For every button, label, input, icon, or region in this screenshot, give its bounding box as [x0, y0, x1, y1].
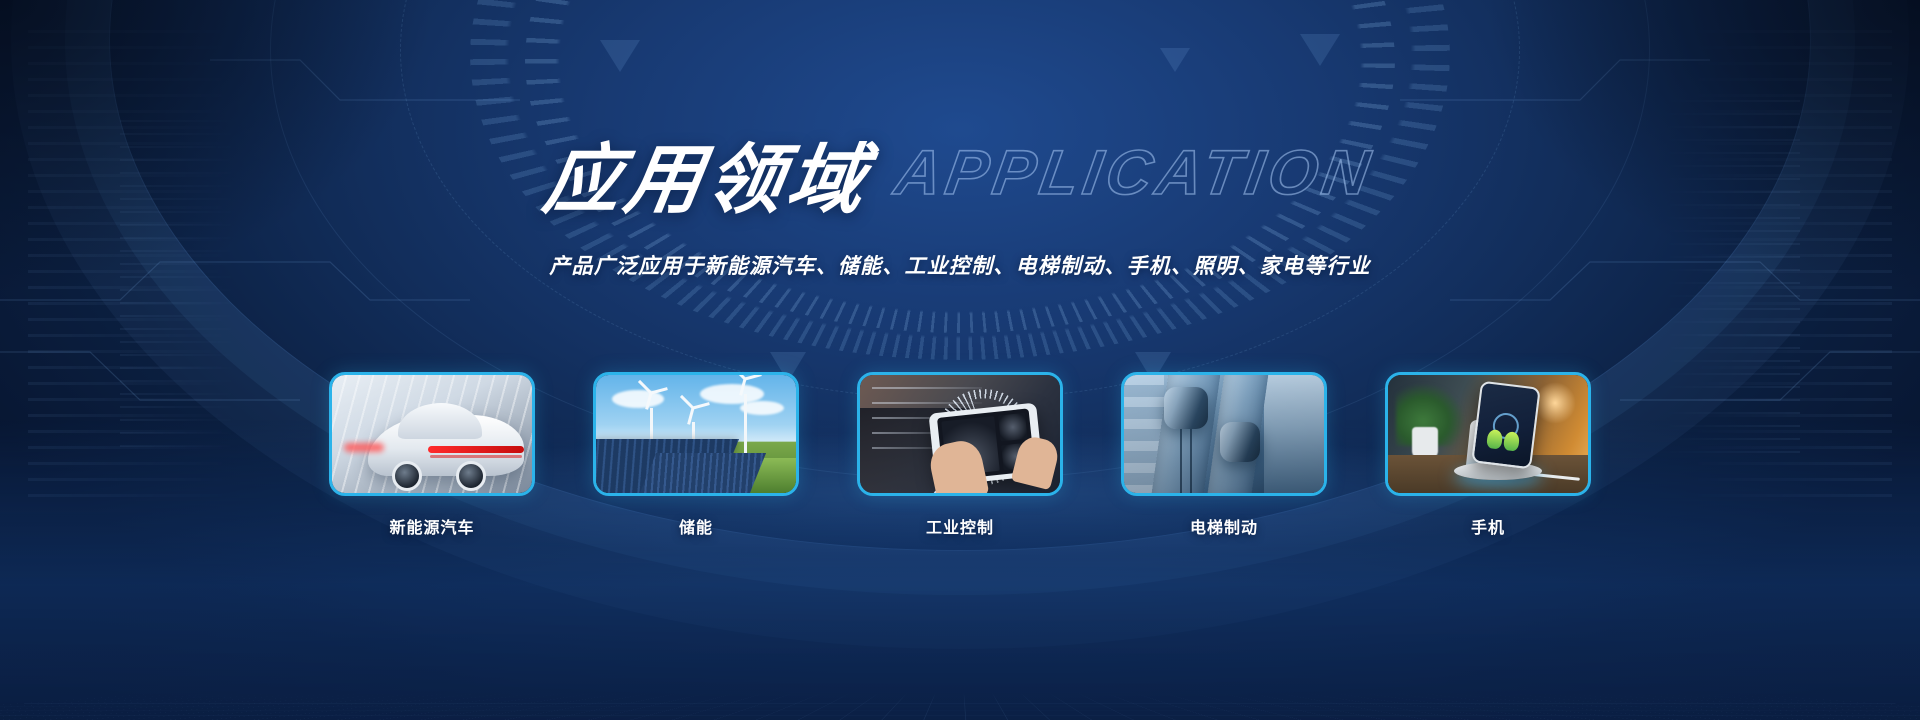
- application-card-energy-storage[interactable]: 储能: [593, 372, 799, 538]
- application-card-industrial-control[interactable]: 工业控制: [857, 372, 1063, 538]
- card-thumbnail[interactable]: [593, 372, 799, 496]
- card-thumbnail[interactable]: [329, 372, 535, 496]
- page-title: 应用领域: [538, 118, 879, 228]
- card-label: 工业控制: [857, 514, 1063, 538]
- application-card-elevator-braking[interactable]: 电梯制动: [1121, 372, 1327, 538]
- card-label: 手机: [1385, 514, 1591, 538]
- card-label: 储能: [593, 514, 799, 538]
- card-thumbnail[interactable]: [857, 372, 1063, 496]
- industrial-control-tablet-photo: [860, 375, 1060, 493]
- card-label: 电梯制动: [1121, 514, 1327, 538]
- elevator-shaft-photo: [1124, 375, 1324, 493]
- card-thumbnail[interactable]: [1121, 372, 1327, 496]
- new-energy-vehicle-photo: [332, 375, 532, 493]
- smartphone-wireless-charger-photo: [1388, 375, 1588, 493]
- application-banner: 应用领域APPLICATION 产品广泛应用于新能源汽车、储能、工业控制、电梯制…: [0, 0, 1920, 720]
- banner-header: 应用领域APPLICATION 产品广泛应用于新能源汽车、储能、工业控制、电梯制…: [0, 118, 1920, 280]
- application-card-list: 新能源汽车 储能: [0, 372, 1920, 538]
- page-subtitle: 产品广泛应用于新能源汽车、储能、工业控制、电梯制动、手机、照明、家电等行业: [0, 250, 1920, 280]
- card-label: 新能源汽车: [329, 514, 535, 538]
- application-card-new-energy-vehicle[interactable]: 新能源汽车: [329, 372, 535, 538]
- application-card-mobile-phone[interactable]: 手机: [1385, 372, 1591, 538]
- energy-storage-solar-wind-photo: [596, 375, 796, 493]
- card-thumbnail[interactable]: [1385, 372, 1591, 496]
- page-title-english: APPLICATION: [891, 137, 1380, 209]
- title-row: 应用领域APPLICATION: [546, 118, 1373, 228]
